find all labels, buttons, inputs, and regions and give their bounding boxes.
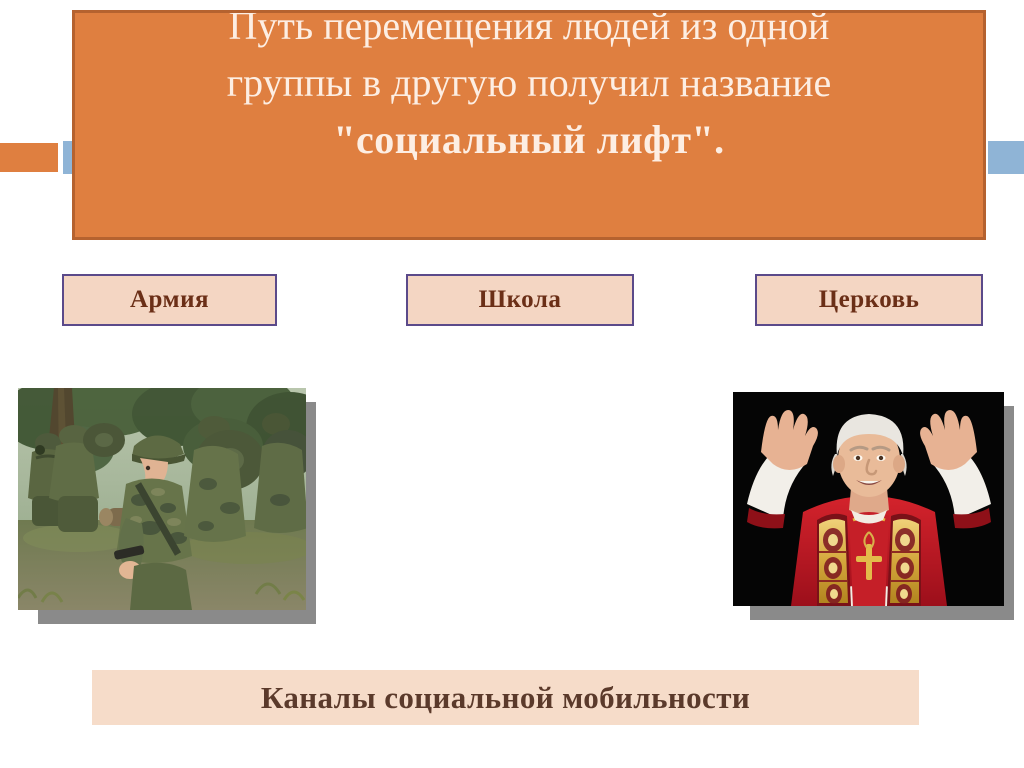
church-photo-illustration [733,392,1004,606]
army-photo [18,388,306,610]
title-line-2: группы в другую получил название [75,54,983,111]
channel-box-church: Церковь [755,274,983,326]
caption-text: Каналы социальной мобильности [261,680,750,716]
decor-right-blue-accent [988,141,1024,174]
channel-label-school: Школа [479,286,562,314]
channel-label-church: Церковь [819,286,920,314]
title-line-1: Путь перемещения людей из одной [75,10,983,54]
channel-box-army: Армия [62,274,277,326]
title-line-3: "социальный лифт". [75,111,983,168]
army-photo-illustration [18,388,306,610]
channel-label-army: Армия [130,286,209,314]
caption-banner: Каналы социальной мобильности [92,670,919,725]
channel-box-school: Школа [406,274,634,326]
title-text-block: Путь перемещения людей из одной группы в… [75,10,983,168]
church-photo [733,392,1004,606]
decor-left-orange-bar [0,143,58,172]
title-banner: Путь перемещения людей из одной группы в… [72,10,986,240]
